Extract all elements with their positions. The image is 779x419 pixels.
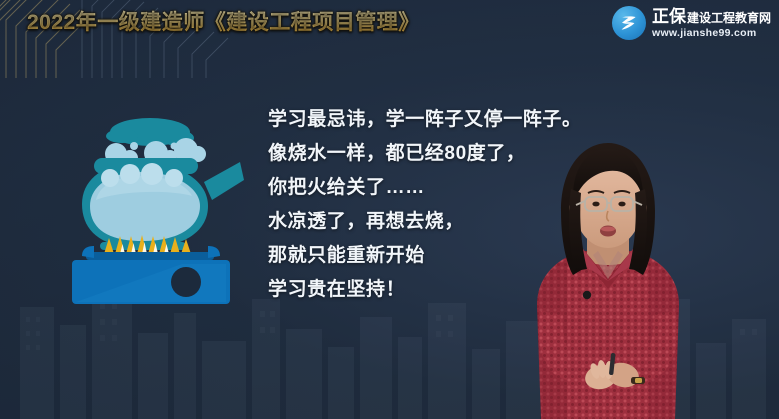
brand-text-block: 正保 建设工程教育网 www.jianshe99.com (652, 8, 771, 39)
lecturer-video-figure (483, 119, 733, 419)
page-title: 2022年一级建造师《建设工程项目管理》 (27, 8, 420, 38)
brand-name-secondary: 建设工程教育网 (687, 12, 771, 25)
kettle-boiling-icon (62, 96, 252, 306)
brand-name-primary: 正保 (652, 8, 686, 25)
header-bar: 2022年一级建造师《建设工程项目管理》 正保 建设工程教育网 www.jian… (0, 0, 779, 50)
brand-z-logo-icon (612, 6, 646, 40)
brand-url: www.jianshe99.com (652, 28, 771, 39)
video-frame: 2022年一级建造师《建设工程项目管理》 正保 建设工程教育网 www.jian… (0, 0, 779, 419)
brand-logo[interactable]: 正保 建设工程教育网 www.jianshe99.com (612, 6, 771, 40)
